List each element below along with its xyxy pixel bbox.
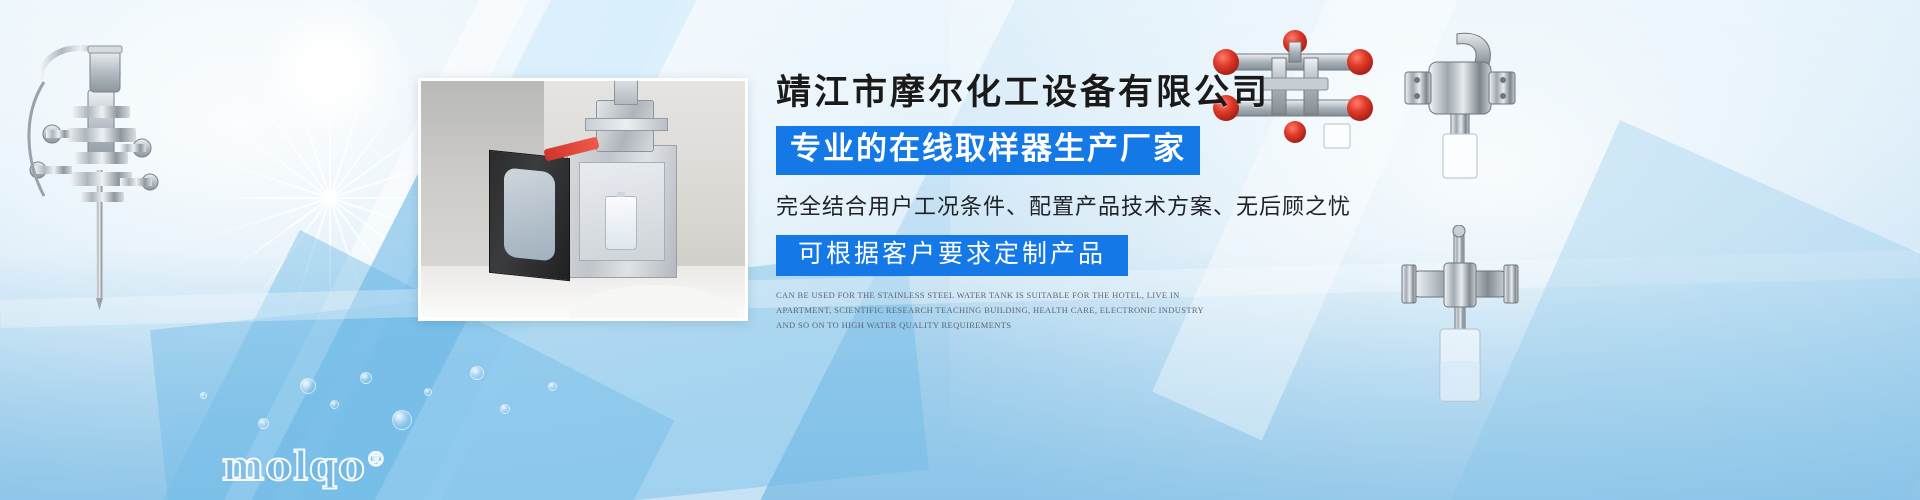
water-bubble bbox=[330, 400, 339, 409]
sampler-assembly-icon bbox=[10, 20, 180, 310]
brand-watermark: molqo® bbox=[222, 443, 387, 490]
water-bubble bbox=[392, 410, 412, 430]
photo-door-window bbox=[504, 167, 555, 262]
brand-watermark-text: molqo bbox=[222, 443, 366, 490]
photo-valve-head bbox=[596, 100, 654, 152]
water-bubble bbox=[200, 392, 207, 399]
water-bubble bbox=[470, 366, 484, 380]
water-bubble bbox=[258, 418, 269, 429]
photo-cabinet bbox=[567, 145, 677, 278]
sub-headline: 完全结合用户工况条件、配置产品技术方案、无后顾之忧 bbox=[776, 189, 1436, 221]
water-bubble bbox=[424, 388, 432, 396]
english-description: CAN BE USED FOR THE STAINLESS STEEL WATE… bbox=[776, 288, 1206, 333]
photo-sample-bottle bbox=[605, 196, 637, 251]
left-product-image bbox=[10, 20, 180, 310]
photo-open-door bbox=[489, 150, 570, 282]
water-bubble bbox=[300, 378, 316, 394]
water-bubble bbox=[360, 372, 372, 384]
banner-text-block: 靖江市摩尔化工设备有限公司 专业的在线取样器生产厂家 完全结合用户工况条件、配置… bbox=[776, 72, 1436, 333]
product-photo bbox=[418, 78, 748, 321]
registered-trademark-icon: ® bbox=[366, 447, 387, 471]
company-name: 靖江市摩尔化工设备有限公司 bbox=[776, 72, 1436, 114]
sunburst-core bbox=[255, 0, 405, 145]
headline-highlight: 专业的在线取样器生产厂家 bbox=[776, 126, 1200, 175]
water-bubble bbox=[548, 382, 557, 391]
cta-highlight: 可根据客户要求定制产品 bbox=[776, 235, 1128, 277]
photo-cabinet-interior bbox=[579, 162, 666, 261]
promo-banner: 靖江市摩尔化工设备有限公司 专业的在线取样器生产厂家 完全结合用户工况条件、配置… bbox=[0, 0, 1920, 500]
water-bubble bbox=[500, 404, 510, 414]
